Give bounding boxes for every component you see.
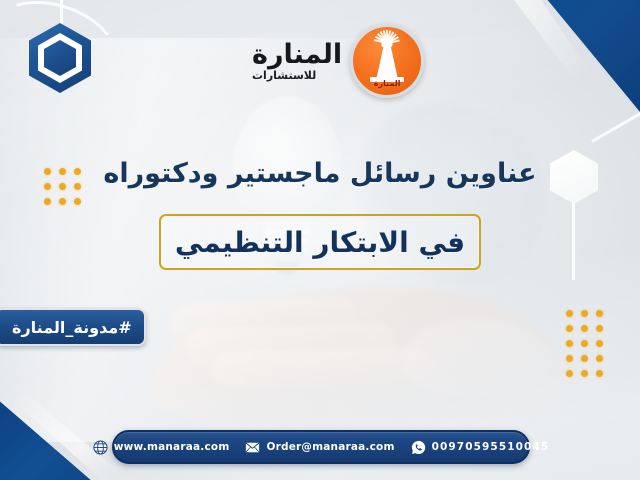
email-label: Order@manaraa.com: [266, 441, 394, 453]
page-title: عناوين رسائل ماجستير ودكتوراه: [0, 158, 640, 189]
dot: [596, 370, 603, 377]
hand-palm: [150, 288, 570, 438]
dot: [566, 370, 573, 377]
contact-email[interactable]: Order@manaraa.com: [245, 440, 394, 455]
lighthouse-icon: المنارة: [350, 24, 424, 98]
dot: [581, 370, 588, 377]
contact-phone[interactable]: 00970595510045: [411, 440, 550, 455]
dot: [581, 325, 588, 332]
brand-logo-lockup: المنارة المنارة للاستشارات: [252, 24, 424, 98]
dot: [581, 340, 588, 347]
brand-tagline: للاستشارات: [252, 70, 316, 81]
dot: [566, 310, 573, 317]
lighthouse-lamp: [382, 39, 393, 47]
website-label: www.manaraa.com: [114, 441, 230, 453]
dot: [596, 355, 603, 362]
phone-icon: [411, 440, 426, 455]
dot: [596, 325, 603, 332]
hashtag-badge: #مدونة_المنارة: [0, 308, 146, 346]
dot: [74, 198, 81, 205]
hand-finger: [185, 322, 396, 367]
contact-bar: www.manaraa.com Order@manaraa.com 009705…: [112, 430, 530, 464]
brand-name: المنارة: [252, 41, 342, 68]
hand-finger: [212, 348, 433, 388]
hashtag-label: #مدونة_المنارة: [12, 318, 132, 337]
subtitle-highlight-box: في الابتكار التنظيمي: [159, 214, 481, 270]
dot: [581, 355, 588, 362]
phone-label: 00970595510045: [432, 441, 550, 453]
dot: [596, 310, 603, 317]
brand-wordmark: المنارة للاستشارات: [252, 41, 342, 81]
dot: [566, 325, 573, 332]
dot: [596, 340, 603, 347]
dot-grid-right: [566, 310, 603, 377]
hand-thumb: [402, 318, 552, 394]
badge-caption: المنارة: [353, 79, 421, 88]
hand-finger: [167, 295, 359, 345]
envelope-icon: [245, 440, 260, 455]
globe-icon: [93, 440, 108, 455]
dot: [566, 355, 573, 362]
dot: [44, 198, 51, 205]
dot: [566, 340, 573, 347]
subtitle-text: في الابتكار التنظيمي: [175, 226, 465, 259]
decor-line-right-vertical: [572, 202, 575, 280]
contact-website[interactable]: www.manaraa.com: [93, 440, 230, 455]
dot: [581, 310, 588, 317]
lighthouse-tower: [376, 46, 398, 80]
dot: [59, 198, 66, 205]
promo-banner: المنارة المنارة للاستشارات عناوين رسائل …: [0, 0, 640, 480]
